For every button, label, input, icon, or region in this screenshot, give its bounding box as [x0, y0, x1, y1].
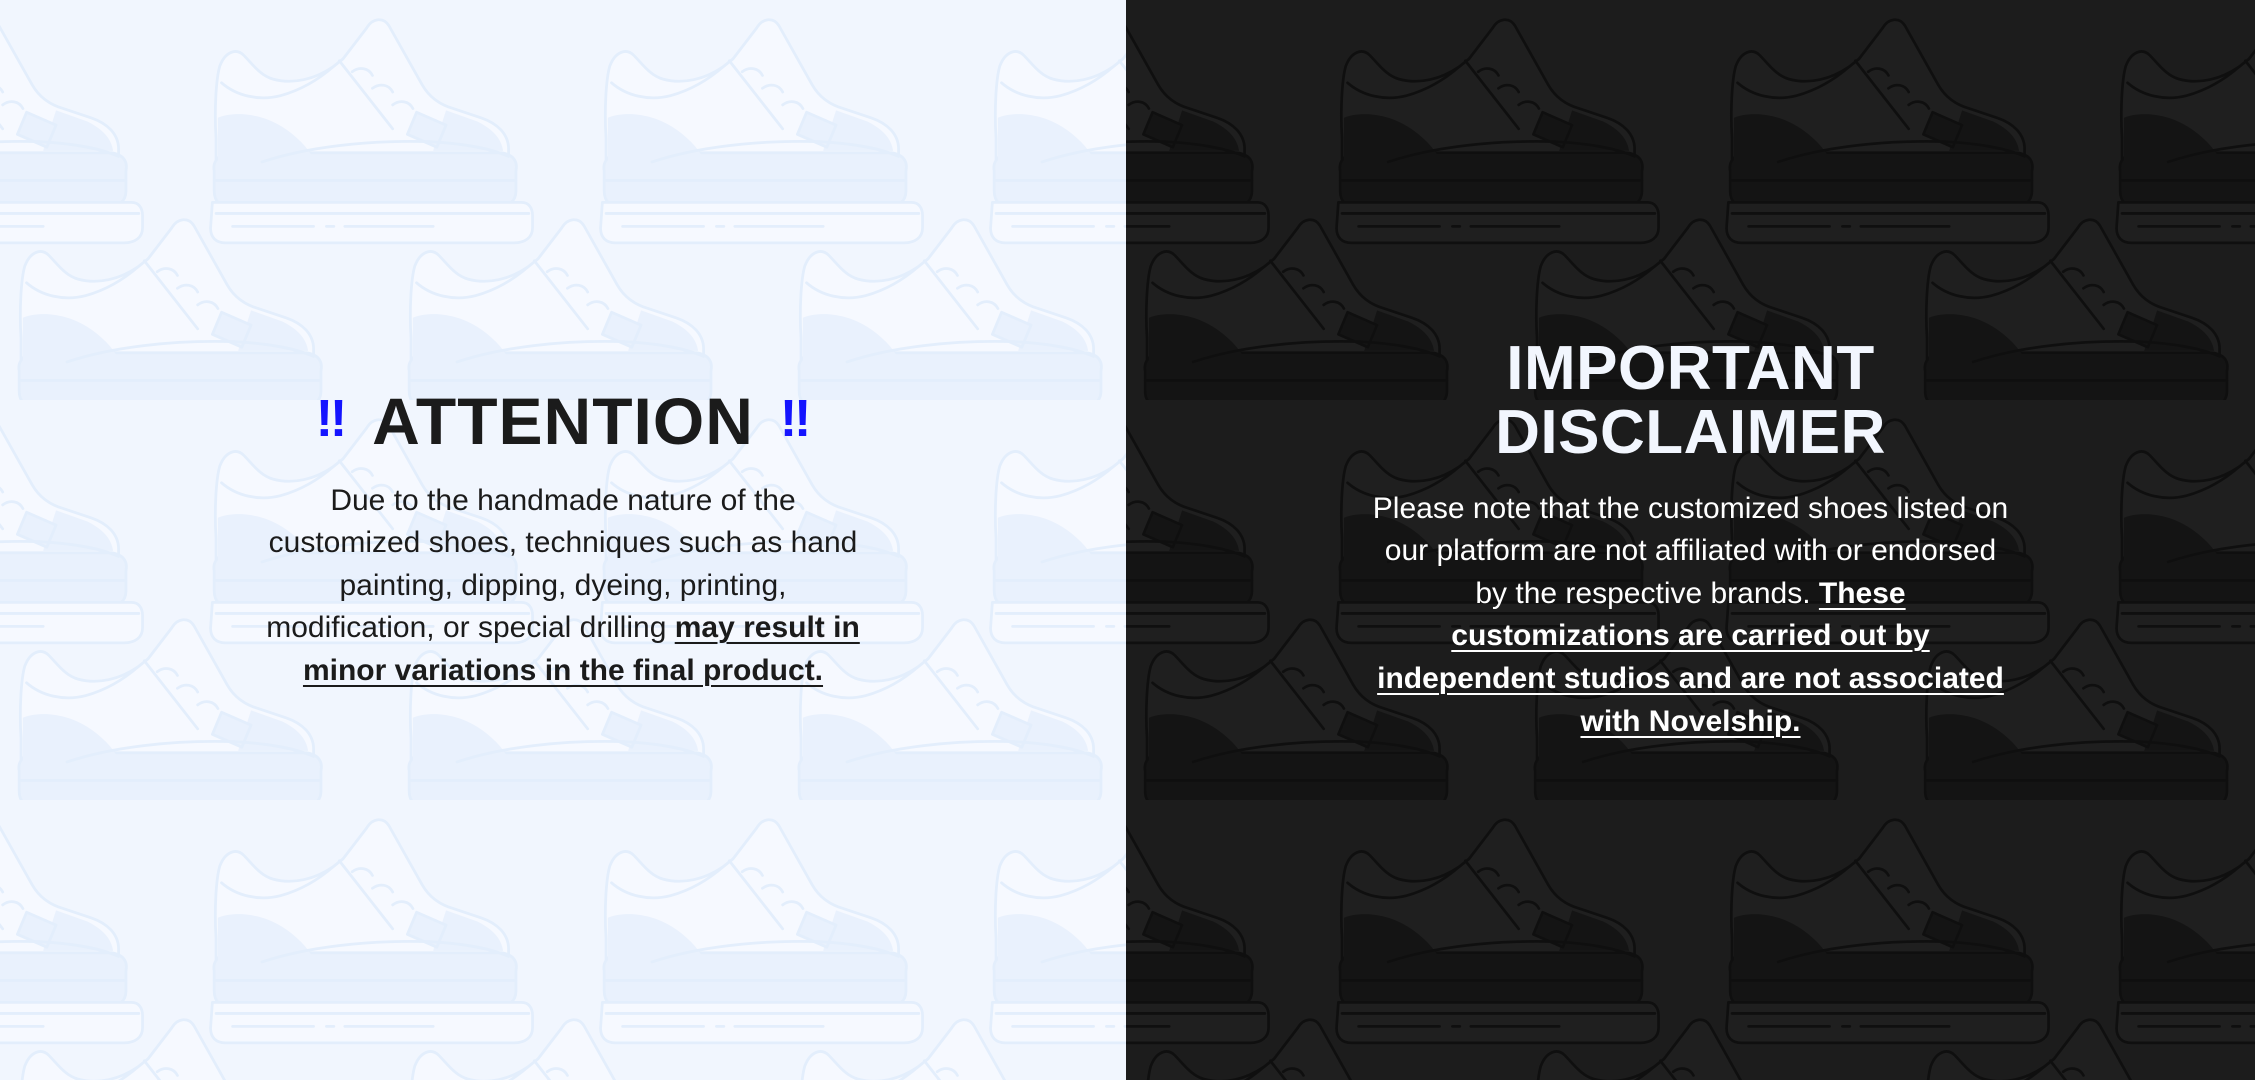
disclaimer-banner: ‼ ATTENTION ‼ Due to the handmade nature… [0, 0, 2255, 1080]
attention-heading-text: ATTENTION [372, 388, 754, 454]
disclaimer-body-intro: Please note that the customized shoes li… [1373, 492, 2008, 610]
disclaimer-heading-line-1: IMPORTANT [1166, 337, 2215, 401]
disclaimer-body: Please note that the customized shoes li… [1371, 488, 2011, 744]
attention-body: Due to the handmade nature of the custom… [253, 480, 873, 693]
disclaimer-content: IMPORTANT DISCLAIMER Please note that th… [1126, 337, 2255, 744]
disclaimer-panel: IMPORTANT DISCLAIMER Please note that th… [1126, 0, 2255, 1080]
disclaimer-heading-line-2: DISCLAIMER [1166, 401, 2215, 465]
attention-content: ‼ ATTENTION ‼ Due to the handmade nature… [0, 388, 1126, 693]
double-exclamation-icon-right: ‼ [780, 393, 810, 445]
attention-panel: ‼ ATTENTION ‼ Due to the handmade nature… [0, 0, 1126, 1080]
double-exclamation-icon-left: ‼ [316, 393, 346, 445]
attention-heading: ‼ ATTENTION ‼ [40, 388, 1086, 454]
disclaimer-heading: IMPORTANT DISCLAIMER [1166, 337, 2215, 466]
